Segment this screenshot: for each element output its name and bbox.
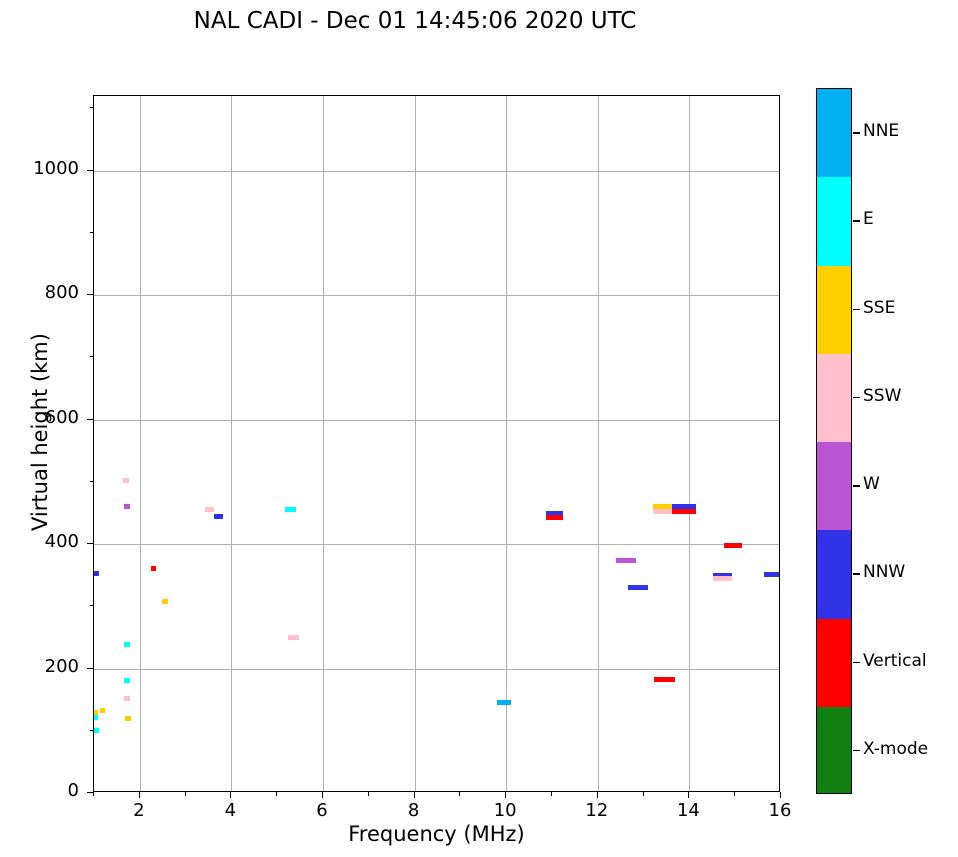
y-tick	[87, 668, 93, 669]
y-tick-minor	[90, 605, 94, 606]
colorbar-tick	[853, 573, 860, 574]
page-title: NAL CADI - Dec 01 14:45:06 2020 UTC	[0, 8, 830, 34]
gridline-vertical	[415, 96, 416, 791]
echo-trace-mark	[124, 504, 130, 509]
x-tick-label: 14	[658, 800, 718, 821]
y-axis-label: Virtual height (km)	[28, 262, 52, 602]
colorbar-segment-w	[817, 442, 851, 531]
colorbar	[816, 88, 852, 794]
colorbar-label-nne: NNE	[863, 121, 899, 141]
colorbar-label-sse: SSE	[863, 298, 895, 318]
x-tick	[688, 792, 689, 798]
x-tick-minor	[643, 792, 644, 796]
x-tick	[505, 792, 506, 798]
y-tick-label: 0	[0, 780, 79, 801]
echo-trace-mark	[162, 599, 168, 604]
x-tick-minor	[276, 792, 277, 796]
ionogram-figure: NAL CADI - Dec 01 14:45:06 2020 UTC 2468…	[0, 0, 958, 857]
echo-trace-mark	[616, 558, 637, 563]
echo-trace-mark	[764, 572, 780, 577]
x-tick-minor	[551, 792, 552, 796]
echo-trace-mark	[497, 700, 511, 705]
echo-trace-mark	[123, 478, 129, 483]
x-tick-label: 12	[567, 800, 627, 821]
echo-trace-mark	[653, 509, 672, 514]
y-tick-label: 200	[0, 656, 79, 677]
x-tick-minor	[734, 792, 735, 796]
x-axis-label: Frequency (MHz)	[93, 822, 780, 846]
colorbar-label-x-mode: X-mode	[863, 739, 928, 759]
colorbar-segment-vertical	[817, 619, 851, 708]
echo-trace-mark	[94, 728, 99, 733]
echo-trace-mark	[124, 696, 130, 701]
x-tick-minor	[93, 792, 94, 796]
y-tick-minor	[90, 730, 94, 731]
gridline-horizontal	[94, 295, 779, 296]
echo-trace-mark	[125, 716, 131, 721]
echo-trace-mark	[628, 585, 649, 590]
echo-trace-mark	[672, 509, 696, 514]
x-tick-label: 10	[475, 800, 535, 821]
gridline-horizontal	[94, 171, 779, 172]
echo-trace-mark	[100, 708, 105, 713]
colorbar-tick	[853, 397, 860, 398]
y-tick	[87, 294, 93, 295]
x-tick	[597, 792, 598, 798]
echo-trace-mark	[654, 677, 675, 682]
x-tick-minor	[459, 792, 460, 796]
x-tick-label: 16	[750, 800, 810, 821]
colorbar-label-vertical: Vertical	[863, 651, 927, 671]
colorbar-label-w: W	[863, 474, 880, 494]
colorbar-tick	[853, 220, 860, 221]
gridline-vertical	[140, 96, 141, 791]
y-tick-minor	[90, 107, 94, 108]
x-tick-label: 6	[292, 800, 352, 821]
colorbar-segment-nnw	[817, 530, 851, 619]
gridline-vertical	[598, 96, 599, 791]
plot-area	[93, 95, 780, 792]
colorbar-tick	[853, 132, 860, 133]
echo-trace-mark	[205, 507, 213, 512]
colorbar-label-nnw: NNW	[863, 562, 905, 582]
echo-trace-mark	[124, 678, 130, 683]
echo-trace-mark	[214, 514, 222, 519]
echo-trace-mark	[124, 642, 130, 647]
gridline-vertical	[506, 96, 507, 791]
echo-trace-mark	[546, 515, 562, 520]
echo-trace-mark	[288, 635, 299, 640]
colorbar-tick	[853, 662, 860, 663]
y-tick	[87, 792, 93, 793]
y-tick-minor	[90, 356, 94, 357]
x-tick-label: 8	[384, 800, 444, 821]
y-tick-minor	[90, 481, 94, 482]
x-tick	[414, 792, 415, 798]
y-tick-label: 1000	[0, 158, 79, 179]
gridline-vertical	[689, 96, 690, 791]
x-tick-minor	[368, 792, 369, 796]
y-tick	[87, 543, 93, 544]
colorbar-tick	[853, 309, 860, 310]
echo-trace-mark	[151, 566, 157, 571]
echo-trace-mark	[94, 571, 99, 576]
colorbar-segment-x-mode	[817, 707, 851, 794]
gridline-vertical	[231, 96, 232, 791]
colorbar-segment-e	[817, 177, 851, 266]
x-tick-minor	[185, 792, 186, 796]
gridline-horizontal	[94, 544, 779, 545]
echo-trace-mark	[93, 715, 98, 720]
colorbar-segment-ssw	[817, 354, 851, 443]
gridline-horizontal	[94, 420, 779, 421]
colorbar-segment-sse	[817, 266, 851, 355]
echo-trace-mark	[713, 576, 731, 581]
gridline-vertical	[323, 96, 324, 791]
echo-trace-mark	[724, 543, 742, 548]
y-tick	[87, 419, 93, 420]
x-tick	[139, 792, 140, 798]
colorbar-label-ssw: SSW	[863, 386, 901, 406]
y-tick-minor	[90, 232, 94, 233]
x-tick-label: 4	[200, 800, 260, 821]
colorbar-label-e: E	[863, 209, 874, 229]
echo-trace-mark	[285, 507, 296, 512]
x-tick	[230, 792, 231, 798]
x-tick	[322, 792, 323, 798]
colorbar-tick	[853, 750, 860, 751]
y-tick	[87, 170, 93, 171]
x-tick-label: 2	[109, 800, 169, 821]
colorbar-tick	[853, 485, 860, 486]
x-tick	[780, 792, 781, 798]
gridline-horizontal	[94, 669, 779, 670]
colorbar-segment-nne	[817, 89, 851, 178]
